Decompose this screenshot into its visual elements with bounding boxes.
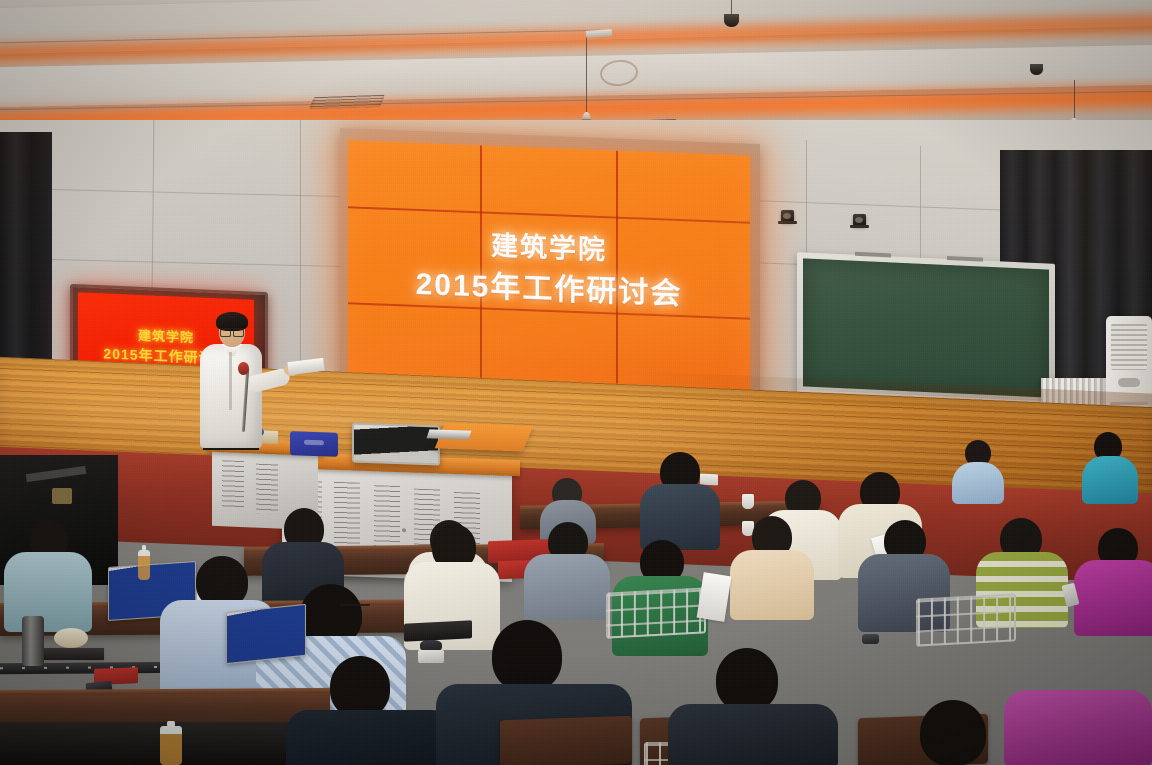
desk-equipment bbox=[404, 620, 472, 642]
laptop-screen[interactable] bbox=[226, 604, 306, 664]
green-chalkboard[interactable] bbox=[803, 258, 1049, 397]
presenter-glasses-icon bbox=[220, 328, 244, 335]
dome-camera-icon bbox=[1030, 64, 1043, 75]
audience-head bbox=[330, 656, 390, 718]
audience-torso bbox=[524, 554, 610, 620]
audience-torso bbox=[286, 710, 454, 765]
wall-panel-seam bbox=[300, 120, 301, 388]
audience-torso bbox=[1074, 560, 1152, 636]
water-bottle bbox=[160, 726, 182, 765]
thermos-flask bbox=[22, 616, 44, 666]
speaker-bracket bbox=[778, 221, 797, 224]
audience-torso bbox=[730, 550, 814, 620]
audience-torso bbox=[668, 704, 838, 765]
audience-head bbox=[920, 700, 986, 765]
chair-wire-basket bbox=[606, 587, 706, 638]
audience-head bbox=[716, 648, 778, 712]
speaker-bracket bbox=[850, 225, 869, 228]
desk-front-panel bbox=[0, 722, 300, 765]
wall-panel-seam bbox=[806, 140, 807, 270]
audience-head bbox=[492, 620, 562, 692]
podium-monitor[interactable] bbox=[352, 422, 440, 465]
snack-item bbox=[54, 628, 88, 648]
main-led-video-wall[interactable]: 建筑学院 2015年工作研讨会 bbox=[348, 140, 750, 395]
podium-papers bbox=[427, 429, 472, 439]
hanging-microphone-cable bbox=[1074, 80, 1075, 122]
microphone-icon[interactable] bbox=[238, 362, 249, 375]
wall-panel-seam bbox=[920, 146, 921, 276]
audience-torso bbox=[952, 462, 1004, 504]
document-sheet bbox=[697, 572, 732, 622]
presenter-shirt-placket bbox=[229, 352, 232, 410]
lecture-hall-photo: 建筑学院 2015年工作研讨会 建筑学院 2015年工作研讨会 bbox=[0, 0, 1152, 765]
paper-cup bbox=[742, 494, 754, 509]
wristwatch-icon bbox=[862, 634, 879, 644]
av-rack-item bbox=[52, 488, 72, 504]
audience-torso bbox=[1004, 690, 1152, 765]
notebook bbox=[44, 648, 104, 660]
hanging-microphone-cable bbox=[586, 36, 587, 118]
water-bottle bbox=[138, 550, 150, 580]
chair-wire-basket bbox=[916, 593, 1016, 646]
mobile-phone-icon[interactable] bbox=[418, 650, 444, 663]
audience-torso bbox=[640, 484, 720, 550]
audience-glasses-icon bbox=[340, 604, 370, 614]
audience-torso bbox=[4, 552, 92, 632]
blue-chair[interactable] bbox=[290, 431, 338, 457]
audience-torso bbox=[1082, 456, 1138, 504]
dome-camera-icon bbox=[724, 14, 739, 27]
chair-back[interactable] bbox=[500, 716, 632, 765]
